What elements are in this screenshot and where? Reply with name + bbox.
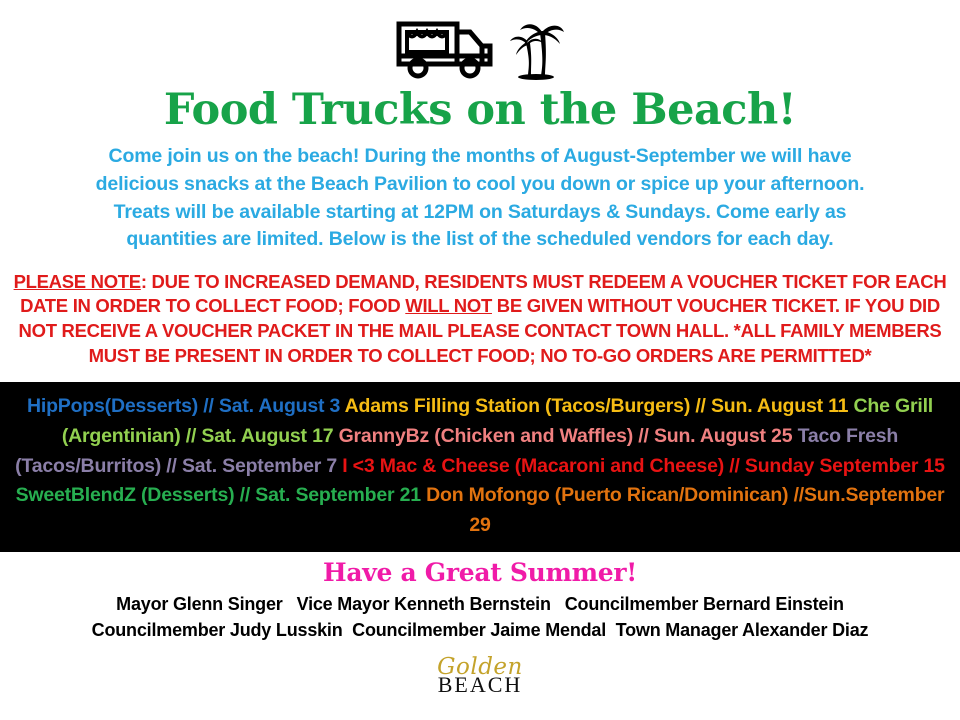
vendor-list: HipPops(Desserts) // Sat. August 3 Adams…: [10, 392, 950, 540]
official-name: Councilmember Judy Lusskin: [92, 620, 343, 640]
logo-beach-text: BEACH: [437, 674, 523, 696]
notice-emphasis: WILL NOT: [405, 295, 492, 316]
summer-heading: Have a Great Summer!: [323, 558, 637, 587]
notice-label: PLEASE NOTE: [14, 271, 141, 292]
food-truck-icon: [394, 18, 498, 80]
page-title: Food Trucks on the Beach!: [0, 88, 960, 133]
vendor-entry: Don Mofongo (Puerto Rican/Dominican) //S…: [426, 484, 944, 536]
officials-list: Mayor Glenn SingerVice Mayor Kenneth Ber…: [92, 591, 869, 643]
official-name: Vice Mayor Kenneth Bernstein: [297, 594, 551, 614]
golden-beach-logo: Golden BEACH: [437, 656, 523, 696]
vendor-entry: I <3 Mac & Cheese (Macaroni and Cheese) …: [342, 455, 945, 477]
officials-row: Councilmember Judy Lusskin Councilmember…: [92, 617, 869, 643]
flyer-page: Food Trucks on the Beach! Come join us o…: [0, 0, 960, 720]
intro-line: quantities are limited. Below is the lis…: [22, 226, 938, 254]
intro-paragraph: Come join us on the beach! During the mo…: [0, 133, 960, 254]
palm-tree-icon: [504, 17, 566, 81]
officials-row: Mayor Glenn SingerVice Mayor Kenneth Ber…: [92, 591, 869, 617]
footer: Have a Great Summer! Mayor Glenn SingerV…: [0, 552, 960, 720]
vendor-entry: SweetBlendZ (Desserts) // Sat. September…: [16, 484, 427, 506]
header-icons: [0, 0, 960, 86]
vendor-entry: HipPops(Desserts) // Sat. August 3: [27, 395, 345, 417]
intro-line: delicious snacks at the Beach Pavilion t…: [22, 171, 938, 199]
notice-block: PLEASE NOTE: DUE TO INCREASED DEMAND, RE…: [0, 254, 960, 368]
official-name: Councilmember Bernard Einstein: [565, 594, 844, 614]
title-text: Food Trucks on the Beach!: [164, 85, 796, 135]
vendor-schedule-box: HipPops(Desserts) // Sat. August 3 Adams…: [0, 382, 960, 552]
official-name: Town Manager Alexander Diaz: [616, 620, 869, 640]
vendor-entry: GrannyBz (Chicken and Waffles) // Sun. A…: [339, 425, 798, 447]
official-name: Councilmember Jaime Mendal: [352, 620, 606, 640]
intro-line: Treats will be available starting at 12P…: [22, 199, 938, 227]
vendor-entry: Adams Filling Station (Tacos/Burgers) //…: [345, 395, 854, 417]
official-name: Mayor Glenn Singer: [116, 594, 282, 614]
intro-line: Come join us on the beach! During the mo…: [22, 143, 938, 171]
